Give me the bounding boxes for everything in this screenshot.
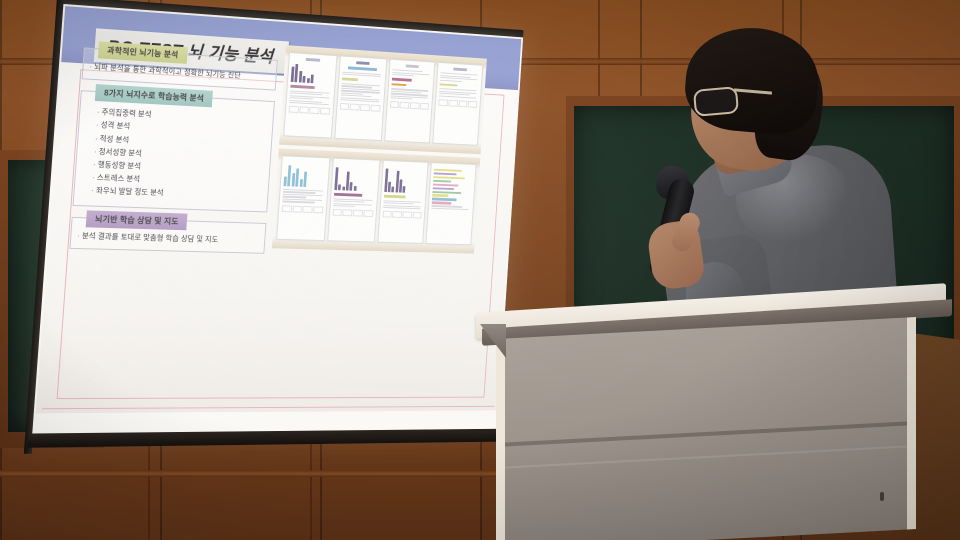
report-page-thumb [433,62,484,146]
report-page-thumb [276,155,330,241]
podium [476,284,960,540]
projection-screen: BQ TEST-뇌 기능 분석 과학적인 뇌기능 분석 뇌파 분석을 통한 과학… [30,0,523,464]
podium-panel-seam [505,445,907,468]
report-page-thumb [334,55,387,141]
slide-section-list: 과학적인 뇌기능 분석 뇌파 분석을 통한 과학적이고 정확한 뇌기능 진단 8… [69,47,278,263]
podium-lock-icon [880,492,884,501]
report-page-thumb [384,59,436,144]
thumbnail-row [279,45,487,154]
presentation-slide: BQ TEST-뇌 기능 분석 과학적인 뇌기능 분석 뇌파 분석을 통한 과학… [36,6,522,413]
report-page-thumb [327,158,380,243]
report-page-thumb [426,162,477,245]
slide-bottom-rule [42,406,495,410]
mini-bar-chart [284,163,327,188]
podium-front-panel [496,317,916,540]
thumbnail-row [272,148,480,253]
podium-panel-divider [505,421,907,446]
report-page-thumb [283,52,337,138]
section-1-bullet-1: 뇌파 분석을 통한 과학적이고 정확한 뇌기능 진단 [89,61,270,83]
section-brain-based-coaching: 뇌기반 학습 상담 및 지도 분석 결과를 토대로 맞춤형 학습 상담 및 지도 [69,216,266,253]
section-header-3: 뇌기반 학습 상담 및 지도 [86,210,188,230]
report-thumbnail-grid [272,45,487,257]
glasses-icon [693,86,739,117]
section-3-bullet-1: 분석 결과를 토대로 맞춤형 학습 상담 및 지도 [77,230,259,246]
section-header-2: 8가지 뇌지수로 학습능력 분석 [95,84,213,107]
mini-bar-chart [334,165,376,191]
report-page-thumb [377,160,429,244]
mini-bar-chart [384,168,425,194]
mini-bar-chart [291,63,333,85]
section-eight-brain-indices: 8가지 뇌지수로 학습능력 분석 주의집중력 분석 성격 분석 적성 분석 정서… [73,90,275,212]
screen-surface: BQ TEST-뇌 기능 분석 과학적인 뇌기능 분석 뇌파 분석을 통한 과학… [32,4,523,436]
